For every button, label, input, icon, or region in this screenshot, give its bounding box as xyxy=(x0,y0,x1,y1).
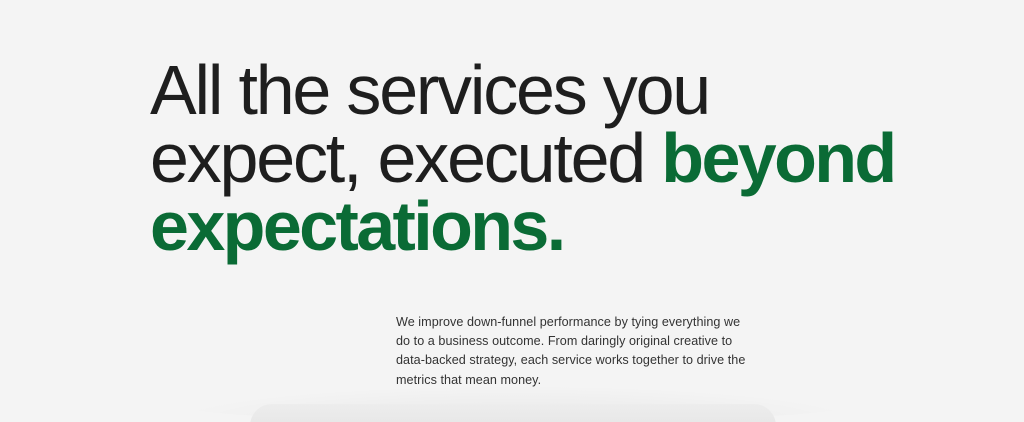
heading-line-2: expect, executed beyond xyxy=(150,124,910,192)
hero-description: We improve down-funnel performance by ty… xyxy=(396,313,754,390)
heading-accent-beyond: beyond xyxy=(661,119,894,197)
heading-line-1-text: All the services you xyxy=(150,51,709,129)
heading-accent-expectations: expectations. xyxy=(150,187,564,265)
heading-line-3: expectations. xyxy=(150,192,910,260)
heading-line-1: All the services you xyxy=(150,56,910,124)
page-title: All the services you expect, executed be… xyxy=(150,56,910,260)
heading-line-2-text: expect, executed xyxy=(150,119,661,197)
bottom-panel xyxy=(250,404,776,422)
hero-section: All the services you expect, executed be… xyxy=(0,0,1024,422)
